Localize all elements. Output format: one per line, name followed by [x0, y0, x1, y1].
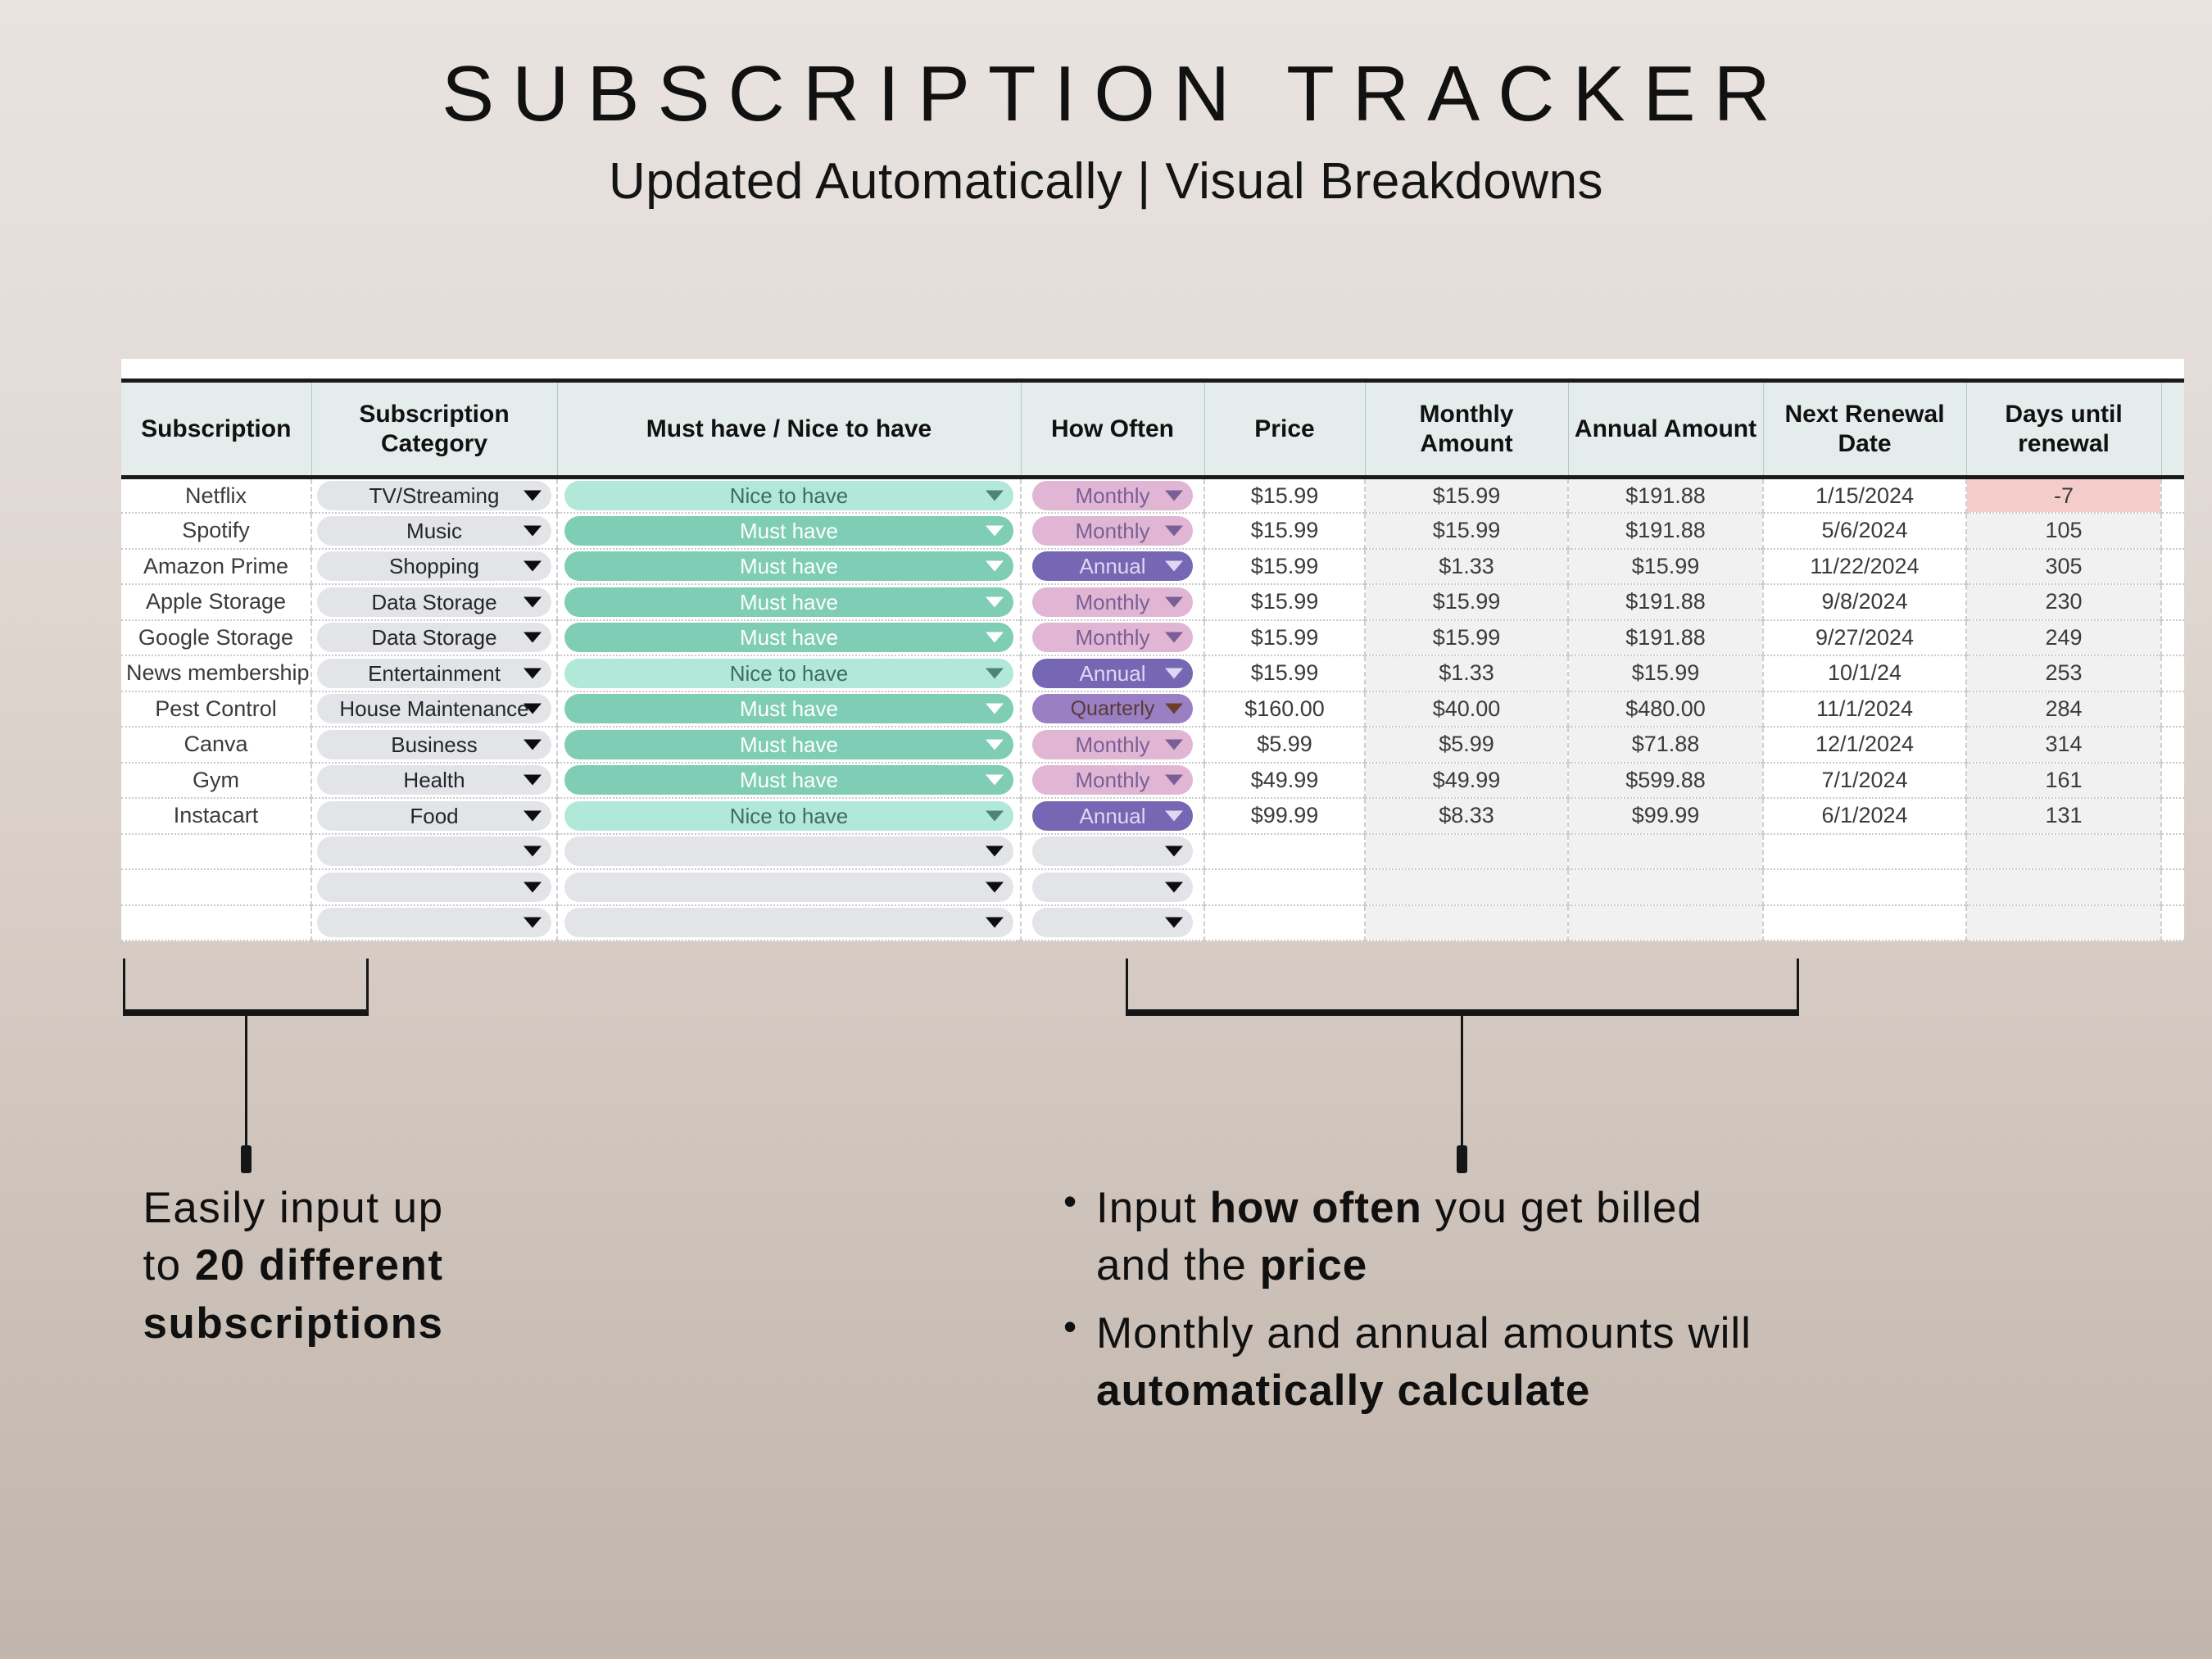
how-often-dropdown[interactable]	[1032, 908, 1193, 937]
cell-annual-amount: $15.99	[1568, 655, 1763, 691]
priority-dropdown[interactable]: Nice to have	[564, 481, 1013, 510]
how-often-dropdown-label: Monthly	[1075, 734, 1149, 755]
bullet1-part-3: and the	[1096, 1241, 1260, 1290]
bracket-left	[123, 959, 369, 1016]
priority-dropdown-label: Must have	[740, 520, 838, 542]
cell-monthly-amount: $8.33	[1365, 798, 1568, 834]
category-dropdown[interactable]: Data Storage	[317, 587, 551, 617]
chevron-down-icon	[1165, 846, 1183, 857]
priority-dropdown-label: Nice to have	[730, 805, 849, 827]
table-row-empty	[121, 905, 2184, 941]
cell-annual-amount: $99.99	[1568, 798, 1763, 834]
cell-annual-amount	[1568, 869, 1763, 905]
cell-priority: Nice to have	[557, 798, 1021, 834]
category-dropdown[interactable]: Music	[317, 516, 551, 546]
cell-subscription[interactable]: Amazon Prime	[121, 549, 311, 585]
cell-spacer	[2161, 905, 2184, 941]
category-dropdown[interactable]: Data Storage	[317, 623, 551, 652]
how-often-dropdown-label: Monthly	[1075, 627, 1149, 648]
category-dropdown-label: Entertainment	[368, 663, 501, 684]
cell-price[interactable]: $49.99	[1204, 763, 1365, 799]
column-header-next-renewal-date[interactable]: Next Renewal Date	[1763, 381, 1966, 478]
cell-priority	[557, 834, 1021, 870]
table-row: Google StorageData StorageMust haveMonth…	[121, 620, 2184, 656]
column-header-annual-amount[interactable]: Annual Amount	[1568, 381, 1763, 478]
cell-how-often: Annual	[1021, 549, 1204, 585]
priority-dropdown-label: Must have	[740, 627, 838, 648]
priority-dropdown[interactable]: Must have	[564, 516, 1013, 546]
bullet1-part-1: Input	[1096, 1184, 1210, 1232]
cell-price[interactable]: $15.99	[1204, 549, 1365, 585]
priority-dropdown-label: Nice to have	[730, 485, 849, 506]
category-dropdown-label: Music	[406, 520, 462, 542]
table-row: GymHealthMust haveMonthly$49.99$49.99$59…	[121, 763, 2184, 799]
cell-next-renewal-date[interactable]: 9/27/2024	[1763, 620, 1966, 656]
chevron-down-icon	[986, 491, 1004, 501]
table-row-empty	[121, 869, 2184, 905]
cell-spacer	[2161, 584, 2184, 620]
callout-left-line-1: Easily input up	[39, 1180, 547, 1237]
chevron-down-icon	[524, 491, 542, 501]
cell-subscription[interactable]	[121, 834, 311, 870]
bracket-left-endpoint	[241, 1145, 252, 1173]
cell-category: House Maintenance	[311, 691, 557, 728]
how-often-dropdown[interactable]: Monthly	[1032, 516, 1193, 546]
cell-category: Entertainment	[311, 655, 557, 691]
cell-priority: Must have	[557, 549, 1021, 585]
cell-priority: Must have	[557, 691, 1021, 728]
priority-dropdown[interactable]	[564, 908, 1013, 937]
cell-annual-amount: $191.88	[1568, 584, 1763, 620]
bullet1-bold-2: price	[1260, 1241, 1368, 1290]
priority-dropdown-label: Must have	[740, 592, 838, 613]
how-often-dropdown-label: Annual	[1080, 555, 1146, 577]
cell-annual-amount: $191.88	[1568, 478, 1763, 514]
cell-annual-amount: $480.00	[1568, 691, 1763, 728]
category-dropdown[interactable]	[317, 873, 551, 902]
cell-spacer	[2161, 513, 2184, 549]
chevron-down-icon	[524, 525, 542, 536]
cell-monthly-amount	[1365, 834, 1568, 870]
cell-days-until-renewal: 249	[1966, 620, 2161, 656]
cell-days-until-renewal	[1966, 905, 2161, 941]
cell-category: Health	[311, 763, 557, 799]
cell-category: Data Storage	[311, 584, 557, 620]
cell-next-renewal-date[interactable]: 12/1/2024	[1763, 727, 1966, 763]
cell-next-renewal-date[interactable]: 11/1/2024	[1763, 691, 1966, 728]
cell-spacer	[2161, 834, 2184, 870]
cell-annual-amount: $15.99	[1568, 549, 1763, 585]
column-header-spacer	[2161, 381, 2184, 478]
spreadsheet-panel: SubscriptionSubscription CategoryMust ha…	[121, 359, 2184, 941]
category-dropdown-label: Data Storage	[371, 592, 496, 613]
cell-spacer	[2161, 655, 2184, 691]
category-dropdown[interactable]: Shopping	[317, 551, 551, 581]
cell-spacer	[2161, 620, 2184, 656]
cell-next-renewal-date[interactable]: 10/1/24	[1763, 655, 1966, 691]
chevron-down-icon	[986, 918, 1004, 928]
how-often-dropdown[interactable]	[1032, 836, 1193, 866]
chevron-down-icon	[986, 525, 1004, 536]
cell-how-often: Monthly	[1021, 513, 1204, 549]
callout-left: Easily input up to 20 different subscrip…	[39, 1180, 547, 1353]
column-header-must-have-nice-to-have[interactable]: Must have / Nice to have	[557, 381, 1021, 478]
table-row: News membershipEntertainmentNice to have…	[121, 655, 2184, 691]
cell-monthly-amount: $1.33	[1365, 549, 1568, 585]
cell-priority: Must have	[557, 513, 1021, 549]
table-row: Amazon PrimeShoppingMust haveAnnual$15.9…	[121, 549, 2184, 585]
cell-how-often: Monthly	[1021, 584, 1204, 620]
chevron-down-icon	[524, 668, 542, 678]
how-often-dropdown[interactable]: Monthly	[1032, 730, 1193, 759]
cell-priority: Must have	[557, 620, 1021, 656]
cell-annual-amount: $71.88	[1568, 727, 1763, 763]
cell-days-until-renewal: 161	[1966, 763, 2161, 799]
table-row: SpotifyMusicMust haveMonthly$15.99$15.99…	[121, 513, 2184, 549]
cell-next-renewal-date[interactable]: 1/15/2024	[1763, 478, 1966, 514]
cell-priority: Must have	[557, 763, 1021, 799]
cell-priority: Nice to have	[557, 655, 1021, 691]
cell-next-renewal-date[interactable]	[1763, 869, 1966, 905]
priority-dropdown[interactable]: Must have	[564, 694, 1013, 723]
cell-next-renewal-date[interactable]: 7/1/2024	[1763, 763, 1966, 799]
how-often-dropdown-label: Monthly	[1075, 769, 1149, 791]
cell-days-until-renewal: 305	[1966, 549, 2161, 585]
table-row: Pest ControlHouse MaintenanceMust haveQu…	[121, 691, 2184, 728]
priority-dropdown-label: Must have	[740, 769, 838, 791]
cell-days-until-renewal: 131	[1966, 798, 2161, 834]
chevron-down-icon	[986, 882, 1004, 892]
chevron-down-icon	[1165, 561, 1183, 572]
chevron-down-icon	[1165, 739, 1183, 750]
cell-price[interactable]	[1204, 869, 1365, 905]
cell-monthly-amount: $1.33	[1365, 655, 1568, 691]
bullet2-part-1: Monthly and annual amounts will	[1096, 1309, 1752, 1358]
chevron-down-icon	[1165, 918, 1183, 928]
cell-monthly-amount: $5.99	[1365, 727, 1568, 763]
cell-subscription[interactable]: Instacart	[121, 798, 311, 834]
cell-subscription[interactable]: Gym	[121, 763, 311, 799]
cell-next-renewal-date[interactable]	[1763, 905, 1966, 941]
cell-subscription[interactable]: Google Storage	[121, 620, 311, 656]
chevron-down-icon	[524, 846, 542, 857]
cell-monthly-amount	[1365, 905, 1568, 941]
chevron-down-icon	[986, 561, 1004, 572]
cell-price[interactable]: $15.99	[1204, 620, 1365, 656]
priority-dropdown[interactable]: Must have	[564, 623, 1013, 652]
category-dropdown-label: TV/Streaming	[369, 485, 500, 506]
callout-right-bullet-2: Monthly and annual amounts will automati…	[1057, 1305, 2040, 1421]
column-header-how-often[interactable]: How Often	[1021, 381, 1204, 478]
cell-price[interactable]: $5.99	[1204, 727, 1365, 763]
cell-monthly-amount: $15.99	[1365, 584, 1568, 620]
chevron-down-icon	[1165, 525, 1183, 536]
cell-how-often	[1021, 869, 1204, 905]
cell-category: Shopping	[311, 549, 557, 585]
cell-monthly-amount	[1365, 869, 1568, 905]
cell-days-until-renewal: 230	[1966, 584, 2161, 620]
chevron-down-icon	[524, 561, 542, 572]
chevron-down-icon	[524, 739, 542, 750]
chevron-down-icon	[524, 632, 542, 643]
chevron-down-icon	[1165, 810, 1183, 821]
priority-dropdown[interactable]	[564, 836, 1013, 866]
chevron-down-icon	[1165, 632, 1183, 643]
how-often-dropdown[interactable]: Monthly	[1032, 623, 1193, 652]
cell-days-until-renewal: -7	[1966, 478, 2161, 514]
cell-price[interactable]: $99.99	[1204, 798, 1365, 834]
cell-category	[311, 905, 557, 941]
table-body: NetflixTV/StreamingNice to haveMonthly$1…	[121, 478, 2184, 941]
cell-how-often: Quarterly	[1021, 691, 1204, 728]
callout-left-line-3: subscriptions	[39, 1295, 547, 1353]
cell-category: TV/Streaming	[311, 478, 557, 514]
priority-dropdown-label: Nice to have	[730, 663, 849, 684]
priority-dropdown[interactable]	[564, 873, 1013, 902]
cell-category	[311, 869, 557, 905]
category-dropdown-label: Health	[403, 769, 465, 791]
cell-next-renewal-date[interactable]: 5/6/2024	[1763, 513, 1966, 549]
how-often-dropdown-label: Monthly	[1075, 520, 1149, 542]
bullet1-bold-1: how often	[1210, 1184, 1422, 1232]
callout-left-line-2-plain: to	[143, 1241, 194, 1290]
chevron-down-icon	[986, 704, 1004, 714]
how-often-dropdown[interactable]: Monthly	[1032, 587, 1193, 617]
column-header-subscription[interactable]: Subscription	[121, 381, 311, 478]
chevron-down-icon	[1165, 704, 1183, 714]
how-often-dropdown[interactable]: Annual	[1032, 801, 1193, 831]
category-dropdown[interactable]: Business	[317, 730, 551, 759]
cell-next-renewal-date[interactable]: 9/8/2024	[1763, 584, 1966, 620]
table-header-row: SubscriptionSubscription CategoryMust ha…	[121, 381, 2184, 478]
cell-category: Business	[311, 727, 557, 763]
cell-priority: Must have	[557, 584, 1021, 620]
priority-dropdown[interactable]: Must have	[564, 765, 1013, 795]
column-header-days-until-renewal[interactable]: Days until renewal	[1966, 381, 2161, 478]
chevron-down-icon	[986, 775, 1004, 786]
cell-category: Music	[311, 513, 557, 549]
cell-annual-amount: $599.88	[1568, 763, 1763, 799]
cell-next-renewal-date[interactable]	[1763, 834, 1966, 870]
how-often-dropdown[interactable]	[1032, 873, 1193, 902]
cell-subscription[interactable]: Pest Control	[121, 691, 311, 728]
category-dropdown[interactable]: TV/Streaming	[317, 481, 551, 510]
callout-left-line-2: to 20 different	[39, 1237, 547, 1294]
cell-days-until-renewal: 105	[1966, 513, 2161, 549]
table-row: CanvaBusinessMust haveMonthly$5.99$5.99$…	[121, 727, 2184, 763]
chevron-down-icon	[524, 918, 542, 928]
priority-dropdown[interactable]: Nice to have	[564, 659, 1013, 688]
callout-right: Input how often you get billed and the p…	[1057, 1180, 2040, 1430]
cell-next-renewal-date[interactable]: 11/22/2024	[1763, 549, 1966, 585]
bracket-right-endpoint	[1457, 1145, 1467, 1173]
cell-how-often: Monthly	[1021, 727, 1204, 763]
bullet1-part-2: you get billed	[1422, 1184, 1702, 1232]
cell-how-often: Annual	[1021, 655, 1204, 691]
cell-subscription[interactable]: Apple Storage	[121, 584, 311, 620]
cell-priority	[557, 869, 1021, 905]
table-row: Apple StorageData StorageMust haveMonthl…	[121, 584, 2184, 620]
cell-days-until-renewal: 284	[1966, 691, 2161, 728]
priority-dropdown-label: Must have	[740, 555, 838, 577]
chevron-down-icon	[524, 596, 542, 607]
cell-how-often: Monthly	[1021, 763, 1204, 799]
cell-annual-amount: $191.88	[1568, 620, 1763, 656]
cell-spacer	[2161, 691, 2184, 728]
cell-category	[311, 834, 557, 870]
cell-how-often	[1021, 905, 1204, 941]
cell-subscription[interactable]: News membership	[121, 655, 311, 691]
priority-dropdown-label: Must have	[740, 734, 838, 755]
cell-price[interactable]: $15.99	[1204, 513, 1365, 549]
category-dropdown-label: Food	[410, 805, 458, 827]
category-dropdown-label: Business	[391, 734, 478, 755]
cell-days-until-renewal: 253	[1966, 655, 2161, 691]
how-often-dropdown-label: Monthly	[1075, 592, 1149, 613]
chevron-down-icon	[1165, 882, 1183, 892]
chevron-down-icon	[524, 775, 542, 786]
cell-price[interactable]: $15.99	[1204, 478, 1365, 514]
cell-price[interactable]: $15.99	[1204, 584, 1365, 620]
cell-how-often: Monthly	[1021, 620, 1204, 656]
hero-header: SUBSCRIPTION TRACKER Updated Automatical…	[0, 0, 2212, 211]
chevron-down-icon	[986, 810, 1004, 821]
chevron-down-icon	[1165, 596, 1183, 607]
category-dropdown-label: Shopping	[389, 555, 479, 577]
cell-days-until-renewal: 314	[1966, 727, 2161, 763]
category-dropdown[interactable]: Food	[317, 801, 551, 831]
cell-subscription[interactable]	[121, 905, 311, 941]
cell-monthly-amount: $40.00	[1365, 691, 1568, 728]
cell-how-often: Annual	[1021, 798, 1204, 834]
callout-right-list: Input how often you get billed and the p…	[1057, 1180, 2040, 1421]
cell-spacer	[2161, 869, 2184, 905]
page-subtitle: Updated Automatically | Visual Breakdown…	[0, 152, 2212, 211]
chevron-down-icon	[1165, 491, 1183, 501]
cell-next-renewal-date[interactable]: 6/1/2024	[1763, 798, 1966, 834]
callout-left-line-2-bold: 20 different	[195, 1241, 444, 1290]
priority-dropdown[interactable]: Must have	[564, 730, 1013, 759]
category-dropdown-label: Data Storage	[371, 627, 496, 648]
cell-subscription[interactable]: Spotify	[121, 513, 311, 549]
priority-dropdown-label: Must have	[740, 698, 838, 719]
how-often-dropdown[interactable]: Quarterly	[1032, 694, 1193, 723]
chevron-down-icon	[1165, 775, 1183, 786]
how-often-dropdown[interactable]: Annual	[1032, 551, 1193, 581]
cell-priority	[557, 905, 1021, 941]
cell-price[interactable]: $15.99	[1204, 655, 1365, 691]
column-header-price[interactable]: Price	[1204, 381, 1365, 478]
chevron-down-icon	[524, 810, 542, 821]
cell-spacer	[2161, 549, 2184, 585]
priority-dropdown[interactable]: Must have	[564, 587, 1013, 617]
cell-price[interactable]: $160.00	[1204, 691, 1365, 728]
priority-dropdown[interactable]: Nice to have	[564, 801, 1013, 831]
table-row-empty	[121, 834, 2184, 870]
page-title: SUBSCRIPTION TRACKER	[0, 51, 2212, 138]
column-header-monthly-amount[interactable]: Monthly Amount	[1365, 381, 1568, 478]
bracket-right	[1126, 959, 1799, 1016]
cell-monthly-amount: $49.99	[1365, 763, 1568, 799]
cell-spacer	[2161, 478, 2184, 514]
cell-annual-amount	[1568, 834, 1763, 870]
cell-monthly-amount: $15.99	[1365, 513, 1568, 549]
callout-right-bullet-1: Input how often you get billed and the p…	[1057, 1180, 2040, 1295]
chevron-down-icon	[524, 882, 542, 892]
cell-monthly-amount: $15.99	[1365, 620, 1568, 656]
category-dropdown[interactable]: Entertainment	[317, 659, 551, 688]
category-dropdown[interactable]: Health	[317, 765, 551, 795]
category-dropdown-label: House Maintenance	[339, 698, 528, 719]
how-often-dropdown-label: Quarterly	[1071, 699, 1155, 719]
how-often-dropdown-label: Monthly	[1075, 485, 1149, 506]
cell-days-until-renewal	[1966, 834, 2161, 870]
chevron-down-icon	[1165, 668, 1183, 678]
how-often-dropdown[interactable]: Monthly	[1032, 481, 1193, 510]
category-dropdown[interactable]	[317, 908, 551, 937]
cell-subscription[interactable]	[121, 869, 311, 905]
category-dropdown[interactable]	[317, 836, 551, 866]
category-dropdown[interactable]: House Maintenance	[317, 694, 551, 723]
cell-priority: Nice to have	[557, 478, 1021, 514]
chevron-down-icon	[986, 596, 1004, 607]
table-row: InstacartFoodNice to haveAnnual$99.99$8.…	[121, 798, 2184, 834]
cell-spacer	[2161, 727, 2184, 763]
cell-spacer	[2161, 798, 2184, 834]
subscription-table: SubscriptionSubscription CategoryMust ha…	[121, 378, 2184, 941]
cell-monthly-amount: $15.99	[1365, 478, 1568, 514]
cell-how-often	[1021, 834, 1204, 870]
sheet-top-strip	[121, 359, 2184, 378]
cell-subscription[interactable]: Canva	[121, 727, 311, 763]
table-row: NetflixTV/StreamingNice to haveMonthly$1…	[121, 478, 2184, 514]
cell-subscription[interactable]: Netflix	[121, 478, 311, 514]
bullet2-bold-1: automatically calculate	[1096, 1367, 1590, 1415]
cell-price[interactable]	[1204, 905, 1365, 941]
how-often-dropdown-label: Annual	[1080, 663, 1146, 684]
cell-priority: Must have	[557, 727, 1021, 763]
column-header-subscription-category[interactable]: Subscription Category	[311, 381, 557, 478]
priority-dropdown[interactable]: Must have	[564, 551, 1013, 581]
chevron-down-icon	[524, 704, 542, 714]
chevron-down-icon	[986, 632, 1004, 643]
how-often-dropdown[interactable]: Monthly	[1032, 765, 1193, 795]
how-often-dropdown[interactable]: Annual	[1032, 659, 1193, 688]
cell-category: Food	[311, 798, 557, 834]
cell-annual-amount	[1568, 905, 1763, 941]
how-often-dropdown-label: Annual	[1080, 805, 1146, 827]
chevron-down-icon	[986, 668, 1004, 678]
cell-annual-amount: $191.88	[1568, 513, 1763, 549]
chevron-down-icon	[986, 739, 1004, 750]
cell-price[interactable]	[1204, 834, 1365, 870]
cell-spacer	[2161, 763, 2184, 799]
cell-days-until-renewal	[1966, 869, 2161, 905]
cell-category: Data Storage	[311, 620, 557, 656]
cell-how-often: Monthly	[1021, 478, 1204, 514]
chevron-down-icon	[986, 846, 1004, 857]
